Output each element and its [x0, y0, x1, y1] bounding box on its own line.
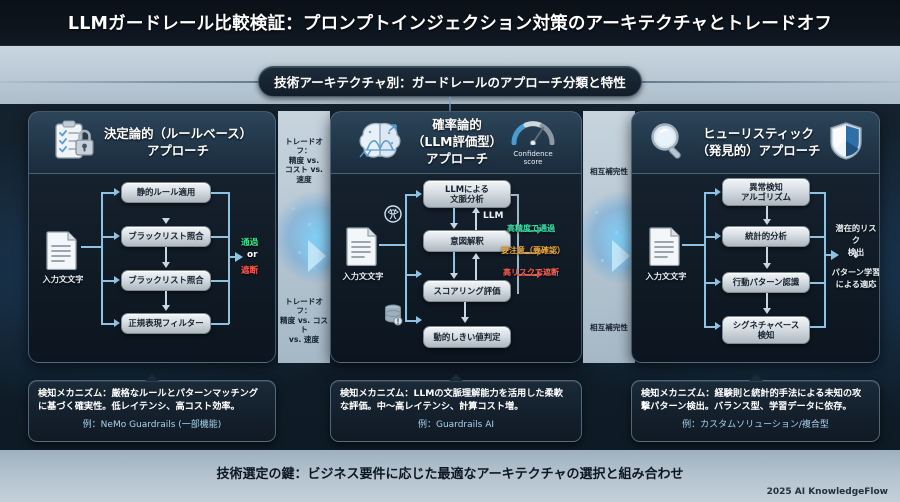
input-document-icon [45, 230, 79, 274]
flow-step-2[interactable]: 統計的分析 [722, 226, 810, 247]
footer-text: 技術選定の鍵：ビジネス要件に応じた最適なアーキテクチャの選択と組み合わせ [216, 463, 683, 482]
caption-mechanism: 検知メカニズム：経験則と統計的手法による未知の攻撃パターン検出。バランス型、学習… [641, 388, 870, 413]
connector-left-top-label: トレードオフ： 精度 vs. コスト vs. 速度 [278, 137, 330, 184]
gauge-label: Confidence score [513, 150, 552, 166]
panel-title-line1: 確率論的 [412, 117, 502, 134]
input-document-icon [345, 226, 379, 270]
connector-left-arrow-icon [308, 240, 326, 272]
model-swirl-icon [383, 204, 403, 228]
input-label: 入力文文字 [337, 270, 389, 282]
flow-step-4[interactable]: 動的しきい値判定 [423, 326, 511, 348]
output-block: 遮断 [241, 264, 258, 276]
output-pattern-learning: パターン学習 による適応 [830, 266, 880, 290]
subtitle-rule-right [638, 81, 900, 83]
caption-example: 例：Guardrails AI [340, 417, 572, 430]
panel-deterministic-header: 決定論的（ルールベース） アプローチ [29, 112, 275, 174]
output-pass: 通過 [241, 236, 258, 248]
flow-step-2[interactable]: ブラックリスト照合 [121, 226, 211, 247]
input-label: 入力文文字 [640, 270, 692, 282]
connector-left-bottom-label: トレードオフ： 精度 vs. コスト vs. 速度 [278, 297, 330, 344]
panel-deterministic-body: 入力文文字 静的ルール適用 ブラックリスト照合 ブラックリスト照合 正規表現フィ… [29, 174, 275, 363]
flow-step-1[interactable]: LLMによる文脈分析 [423, 180, 511, 208]
subtitle-stem [449, 97, 451, 111]
panel-title-line2: （LLM評価型） [412, 134, 502, 151]
connector-right: 相互補完性 相互補完性 [583, 111, 635, 363]
database-icon [383, 304, 403, 330]
flow-step-3[interactable]: 行動パターン認識 [722, 272, 810, 293]
subtitle-rule-left [0, 81, 262, 83]
input-label: 入力文文字 [37, 273, 89, 285]
panel-heuristic-body: 入力文文字 異常検知アルゴリズム 統計的分析 行動パターン認識 シグネチャベース… [632, 174, 879, 363]
subtitle-pill: 技術アーキテクチャ別：ガードレールのアプローチ分類と特性 [258, 66, 642, 97]
flow-step-4[interactable]: 正規表現フィルター [121, 313, 211, 334]
down-arrow-icon: ↓ [832, 250, 880, 261]
diagram-canvas: LLMガードレール比較検証：プロンプトインジェクション対策のアーキテクチャとトレ… [0, 0, 900, 502]
panel-deterministic-title: 決定論的（ルールベース） アプローチ [104, 126, 252, 159]
output-caution: 要注意（要確認） [501, 245, 565, 256]
caption-mechanism: 検知メカニズム：LLMの文脈理解能力を活用した柔軟な評価。中〜高レイテンシ、計算… [340, 388, 572, 413]
flow-step-1[interactable]: 静的ルール適用 [121, 182, 211, 203]
panel-title-line3: アプローチ [412, 151, 502, 168]
panel-heuristic-title: ヒューリスティック （発見的）アプローチ [697, 126, 821, 159]
panel-probabilistic-body: 入力文文字 [331, 174, 581, 363]
caption-example: 例：カスタムソリューション/複合型 [641, 417, 870, 430]
flow-step-1[interactable]: 異常検知アルゴリズム [722, 178, 810, 206]
footer-band: 技術選定の鍵：ビジネス要件に応じた最適なアーキテクチャの選択と組み合わせ [0, 450, 900, 502]
flow-step-3[interactable]: ブラックリスト照合 [121, 270, 211, 291]
panel-title-line2: （発見的）アプローチ [697, 143, 821, 160]
connector-right-arrow-icon [612, 240, 630, 272]
title-bar: LLMガードレール比較検証：プロンプトインジェクション対策のアーキテクチャとトレ… [0, 0, 900, 46]
panel-title-line1: 決定論的（ルールベース） [104, 126, 252, 143]
magnifier-icon [647, 121, 689, 165]
shield-icon [828, 121, 864, 165]
caption-notch [449, 374, 463, 381]
clipboard-check-icon [52, 120, 96, 166]
panel-title-line2: アプローチ [104, 143, 252, 160]
panel-probabilistic-header: 確率論的 （LLM評価型） アプローチ Confidence score [331, 112, 581, 174]
confidence-gauge: Confidence score [510, 119, 556, 166]
panel-heuristic[interactable]: ヒューリスティック （発見的）アプローチ [631, 111, 880, 363]
caption-example: 例：NeMo Guardrails (一部機能) [38, 417, 266, 430]
caption-notch [749, 374, 763, 381]
input-document-icon [648, 226, 682, 270]
page-title: LLMガードレール比較検証：プロンプトインジェクション対策のアーキテクチャとトレ… [68, 10, 832, 35]
panel-title-line1: ヒューリスティック [697, 126, 821, 143]
subtitle-text: 技術アーキテクチャ別：ガードレールのアプローチ分類と特性 [274, 72, 626, 91]
caption-probabilistic: 検知メカニズム：LLMの文脈理解能力を活用した柔軟な評価。中〜高レイテンシ、計算… [330, 380, 582, 442]
connector-left: トレードオフ： 精度 vs. コスト vs. 速度 トレードオフ： 精度 vs.… [278, 111, 330, 363]
connector-right-bottom-label: 相互補完性 [583, 323, 635, 332]
panel-deterministic[interactable]: 決定論的（ルールベース） アプローチ 入力文文字 [28, 111, 276, 363]
brain-icon [356, 119, 404, 167]
credit-text: 2025 AI KnowledgeFlow [767, 487, 888, 497]
llm-tag: LLM [483, 211, 503, 221]
output-high-confidence-pass: 高精度で通過 [507, 223, 555, 234]
panel-probabilistic-title: 確率論的 （LLM評価型） アプローチ [412, 117, 502, 167]
output-high-risk-block: 高リスクで遮断 [503, 267, 559, 278]
connector-right-top-label: 相互補完性 [583, 167, 635, 176]
caption-heuristic: 検知メカニズム：経験則と統計的手法による未知の攻撃パターン検出。バランス型、学習… [631, 380, 880, 442]
flow-step-4[interactable]: シグネチャベース検知 [722, 316, 810, 344]
flow-step-3[interactable]: スコアリング評価 [423, 280, 511, 302]
panel-probabilistic[interactable]: 確率論的 （LLM評価型） アプローチ Confidence score [330, 111, 582, 363]
panel-heuristic-header: ヒューリスティック （発見的）アプローチ [632, 112, 879, 174]
caption-notch [145, 374, 159, 381]
gauge-icon [510, 119, 556, 149]
flow-step-2[interactable]: 意図解釈 [423, 230, 511, 252]
output-or: or [247, 250, 258, 260]
caption-deterministic: 検知メカニズム：厳格なルールとパターンマッチングに基づく確実性。低レイテンシ、高… [28, 380, 276, 442]
caption-mechanism: 検知メカニズム：厳格なルールとパターンマッチングに基づく確実性。低レイテンシ、高… [38, 388, 266, 413]
